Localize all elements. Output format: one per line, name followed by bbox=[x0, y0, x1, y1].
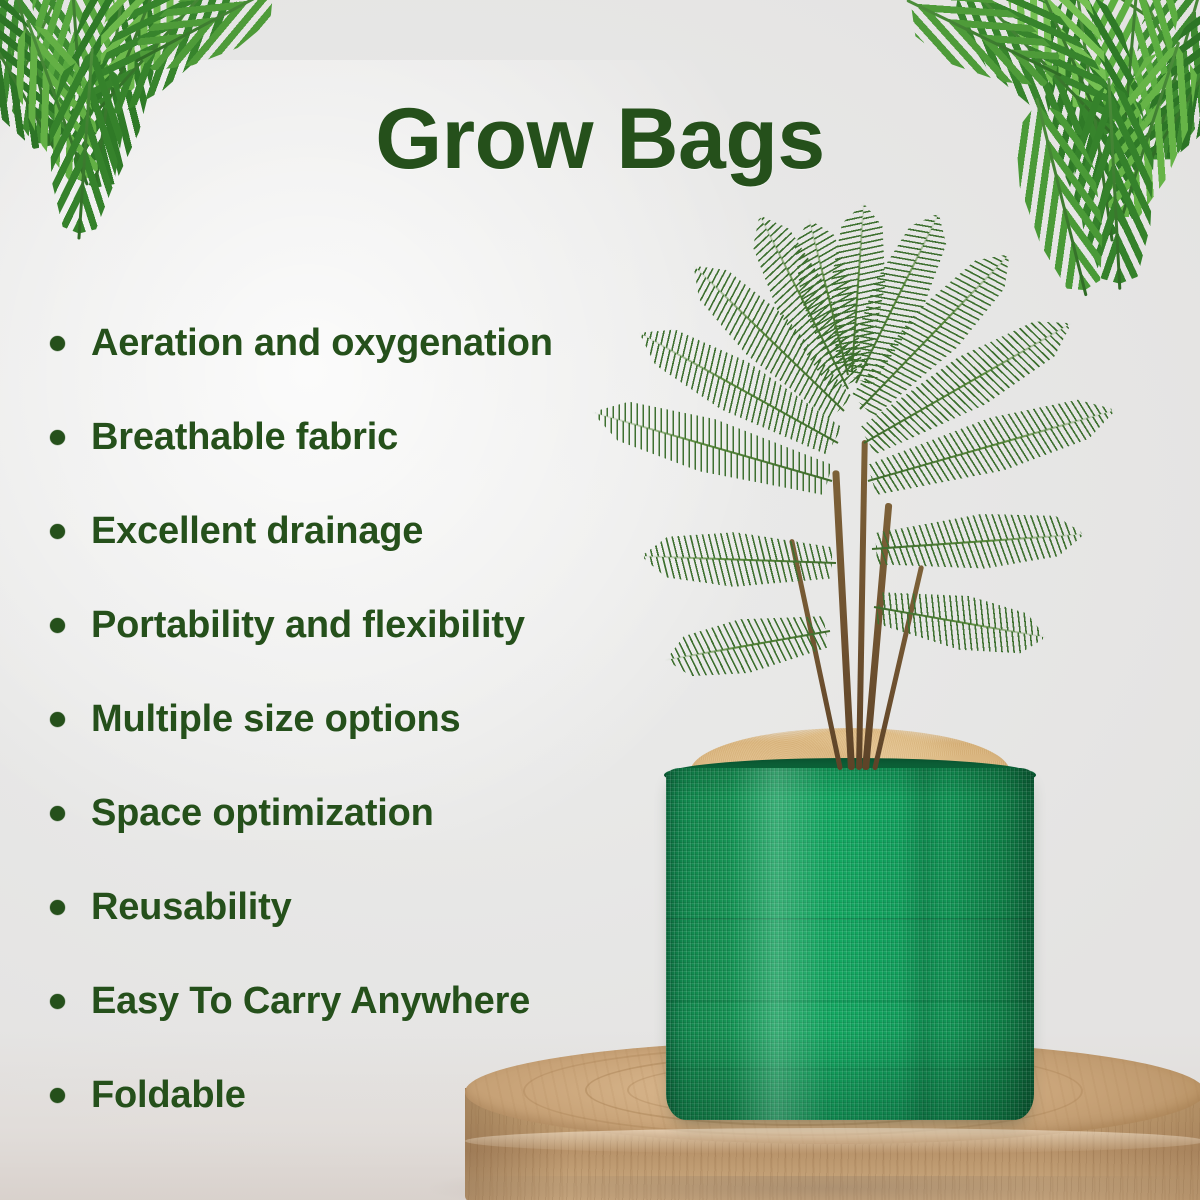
palm-frond bbox=[869, 576, 1053, 668]
palm-stem bbox=[832, 470, 855, 770]
bullet-dot-icon bbox=[50, 336, 65, 351]
feature-label: Aeration and oxygenation bbox=[91, 322, 553, 365]
palm-frond bbox=[870, 503, 1088, 580]
product-feature-poster: Grow Bags Aeration and oxygenation Breat… bbox=[0, 0, 1200, 1200]
grow-bag-product bbox=[666, 750, 1034, 1132]
bullet-dot-icon bbox=[50, 618, 65, 633]
list-item: Easy To Carry Anywhere bbox=[38, 954, 698, 1048]
feature-label: Reusability bbox=[91, 886, 292, 929]
fabric-crease bbox=[666, 918, 1034, 920]
feature-list: Aeration and oxygenation Breathable fabr… bbox=[38, 296, 698, 1142]
bullet-dot-icon bbox=[50, 806, 65, 821]
bullet-dot-icon bbox=[50, 900, 65, 915]
fabric-crease bbox=[666, 1068, 1034, 1070]
bullet-dot-icon bbox=[50, 712, 65, 727]
feature-label: Multiple size options bbox=[91, 698, 460, 741]
list-item: Foldable bbox=[38, 1048, 698, 1142]
list-item: Excellent drainage bbox=[38, 484, 698, 578]
list-item: Aeration and oxygenation bbox=[38, 296, 698, 390]
bullet-dot-icon bbox=[50, 1088, 65, 1103]
list-item: Multiple size options bbox=[38, 672, 698, 766]
bullet-dot-icon bbox=[50, 994, 65, 1009]
grow-bag-body bbox=[666, 768, 1034, 1120]
feature-label: Foldable bbox=[91, 1074, 246, 1117]
feature-label: Easy To Carry Anywhere bbox=[91, 980, 530, 1023]
bullet-dot-icon bbox=[50, 524, 65, 539]
list-item: Portability and flexibility bbox=[38, 578, 698, 672]
list-item: Breathable fabric bbox=[38, 390, 698, 484]
page-title: Grow Bags bbox=[0, 96, 1200, 182]
feature-label: Space optimization bbox=[91, 792, 434, 835]
list-item: Reusability bbox=[38, 860, 698, 954]
stand-drop-shadow bbox=[430, 1176, 1200, 1200]
list-item: Space optimization bbox=[38, 766, 698, 860]
bullet-dot-icon bbox=[50, 430, 65, 445]
feature-label: Excellent drainage bbox=[91, 510, 423, 553]
feature-label: Breathable fabric bbox=[91, 416, 398, 459]
fabric-crease bbox=[666, 1000, 1034, 1002]
feature-label: Portability and flexibility bbox=[91, 604, 525, 647]
